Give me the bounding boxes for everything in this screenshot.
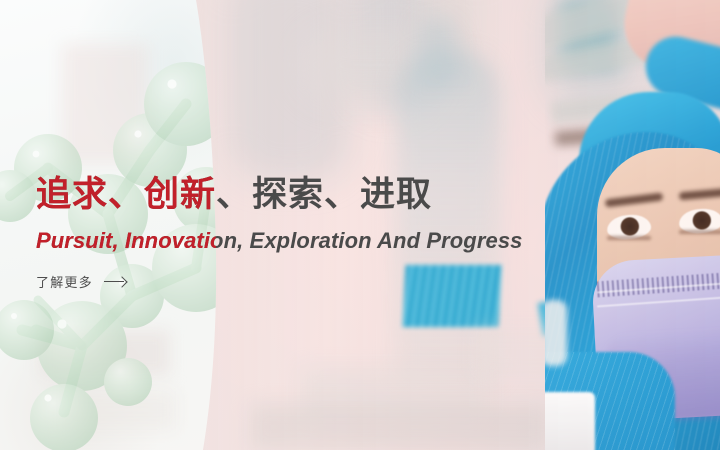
- title-red-overlay: 追求、创新、探索、进取 Pursuit, Innovation, Explora…: [0, 0, 720, 450]
- page-title: 追求、创新、探索、进取: [36, 176, 432, 215]
- hero-banner: 追求、创新、探索、进取 Pursuit, Innovation, Explora…: [0, 0, 720, 450]
- arrow-right-icon: [104, 277, 126, 287]
- learn-more-label: 了解更多: [36, 272, 93, 291]
- banner-content: 追求、创新、探索、进取 Pursuit, Innovation, Explora…: [0, 0, 720, 450]
- learn-more-button[interactable]: 了解更多: [36, 272, 126, 291]
- page-subtitle: Pursuit, Innovation, Exploration And Pro…: [36, 228, 523, 254]
